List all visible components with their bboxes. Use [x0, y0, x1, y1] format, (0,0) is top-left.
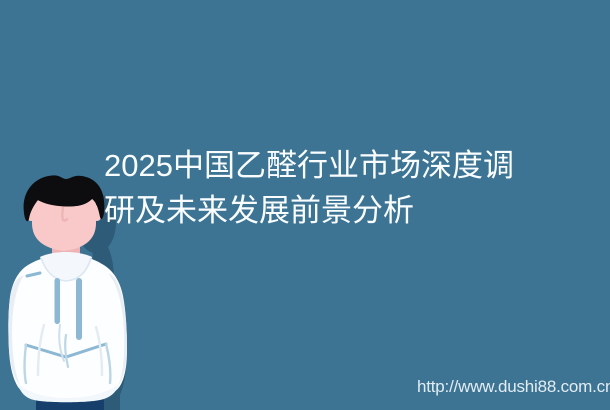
- pants-lower: [36, 401, 104, 410]
- drawstring-right: [76, 278, 82, 340]
- drawstring-left: [55, 278, 61, 324]
- watermark-url: http://www.dushi88.com.cn: [417, 377, 610, 397]
- title-line-1: 2025中国乙醛行业市场深度调: [104, 143, 556, 188]
- promo-banner: 2025中国乙醛行业市场深度调 研及未来发展前景分析 http://www.du…: [0, 0, 610, 410]
- title-line-2: 研及未来发展前景分析: [104, 188, 556, 233]
- banner-title: 2025中国乙醛行业市场深度调 研及未来发展前景分析: [104, 143, 556, 233]
